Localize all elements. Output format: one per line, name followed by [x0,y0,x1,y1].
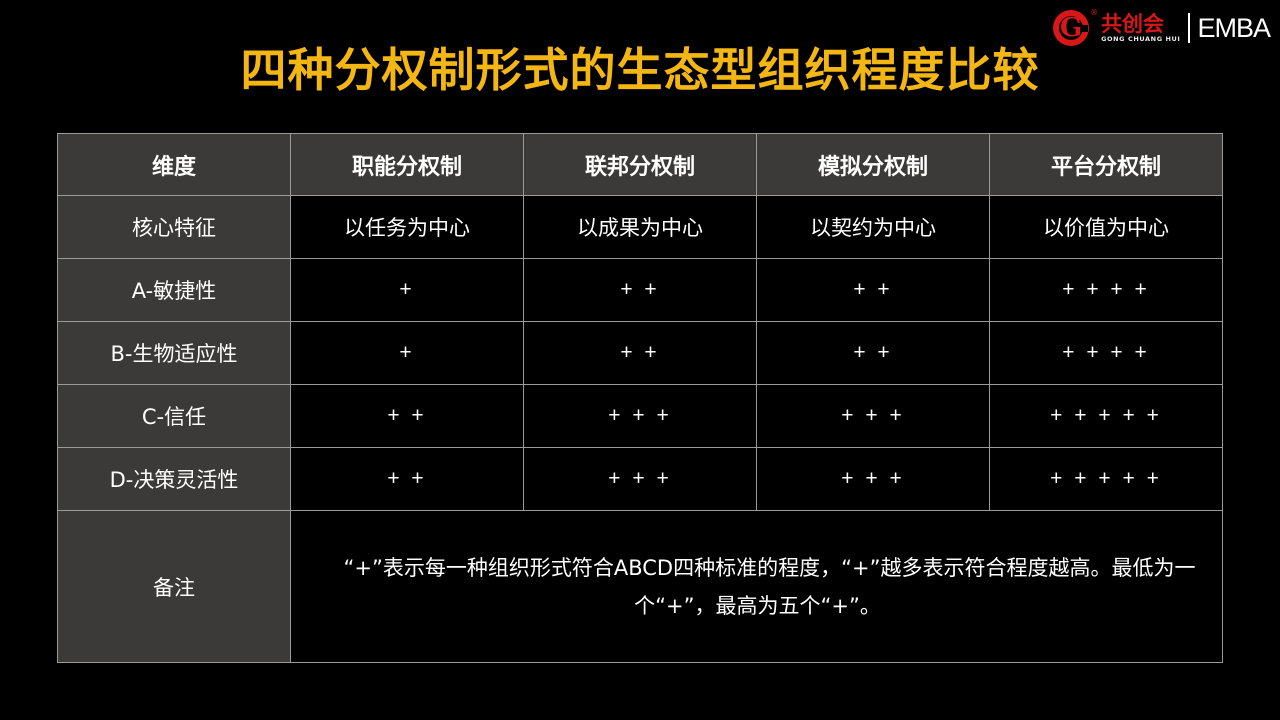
row-label-bio-adaptability: B-生物适应性 [58,322,291,385]
table-row: D-决策灵活性 + + + + + + + + + + + + + [58,448,1223,511]
table-row: B-生物适应性 + + + + + + + + + [58,322,1223,385]
logo-divider [1188,13,1190,43]
cell-core-feature-platform: 以价值为中心 [990,196,1223,259]
cell-trust-simulated: + + + [757,385,990,448]
brand-chinese-name: 共创会 [1101,13,1180,35]
cell-decision-flexibility-functional: + + [291,448,524,511]
registered-trademark-icon: ® [1090,8,1098,17]
row-label-note: 备注 [58,511,291,663]
column-header-federal: 联邦分权制 [524,134,757,196]
column-header-dimension: 维度 [58,134,291,196]
cell-core-feature-simulated: 以契约为中心 [757,196,990,259]
cell-trust-functional: + + [291,385,524,448]
cell-decision-flexibility-platform: + + + + + [990,448,1223,511]
logo-letter: G [1053,10,1089,46]
cell-agility-platform: + + + + [990,259,1223,322]
cell-bio-adaptability-simulated: + + [757,322,990,385]
column-header-platform: 平台分权制 [990,134,1223,196]
comparison-table: 维度 职能分权制 联邦分权制 模拟分权制 平台分权制 核心特征 以任务为中心 以… [57,133,1223,663]
table-row: 核心特征 以任务为中心 以成果为中心 以契约为中心 以价值为中心 [58,196,1223,259]
cell-decision-flexibility-federal: + + + [524,448,757,511]
cell-agility-simulated: + + [757,259,990,322]
column-header-simulated: 模拟分权制 [757,134,990,196]
cell-trust-platform: + + + + + [990,385,1223,448]
cell-trust-federal: + + + [524,385,757,448]
gonchuanghui-g-icon: G [1053,10,1089,46]
cell-decision-flexibility-simulated: + + + [757,448,990,511]
table-row: A-敏捷性 + + + + + + + + + [58,259,1223,322]
cell-core-feature-federal: 以成果为中心 [524,196,757,259]
cell-core-feature-functional: 以任务为中心 [291,196,524,259]
note-text: “+”表示每一种组织形式符合ABCD四种标准的程度，“+”越多表示符合程度越高。… [291,511,1223,663]
brand-name-block: 共创会 GONG CHUANG HUI [1101,13,1180,44]
page-title: 四种分权制形式的生态型组织程度比较 [0,42,1280,98]
cell-agility-functional: + [291,259,524,322]
table-header-row: 维度 职能分权制 联邦分权制 模拟分权制 平台分权制 [58,134,1223,196]
cell-bio-adaptability-functional: + [291,322,524,385]
row-label-agility: A-敏捷性 [58,259,291,322]
brand-program-label: EMBA [1197,13,1270,43]
cell-agility-federal: + + [524,259,757,322]
table-note-row: 备注 “+”表示每一种组织形式符合ABCD四种标准的程度，“+”越多表示符合程度… [58,511,1223,663]
row-label-trust: C-信任 [58,385,291,448]
row-label-core-feature: 核心特征 [58,196,291,259]
table-row: C-信任 + + + + + + + + + + + + + [58,385,1223,448]
row-label-decision-flexibility: D-决策灵活性 [58,448,291,511]
cell-bio-adaptability-platform: + + + + [990,322,1223,385]
column-header-functional: 职能分权制 [291,134,524,196]
cell-bio-adaptability-federal: + + [524,322,757,385]
